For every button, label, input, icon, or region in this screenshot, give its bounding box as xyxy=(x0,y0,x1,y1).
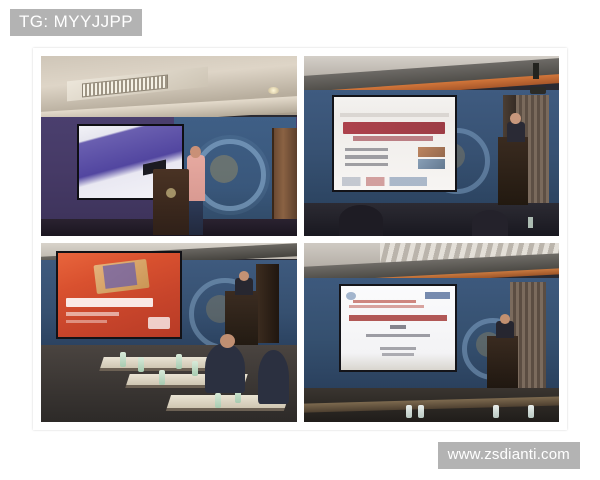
projection-screen xyxy=(332,95,457,192)
site-watermark: www.zsdianti.com xyxy=(438,442,580,469)
photo-panel-bottom-left[interactable] xyxy=(41,243,297,423)
photo-panel-top-left[interactable] xyxy=(41,56,297,236)
water-bottle xyxy=(528,405,534,418)
slide-meta-line xyxy=(66,320,107,323)
photo-collage-card xyxy=(33,48,567,430)
slide-title xyxy=(343,122,445,134)
slide-content xyxy=(334,97,455,190)
slide-banner-line xyxy=(349,305,424,308)
podium xyxy=(487,336,518,390)
water-bottle xyxy=(493,405,499,418)
table xyxy=(101,357,217,368)
slide-content xyxy=(58,253,179,337)
projector-mount-icon xyxy=(533,63,539,79)
projection-screen xyxy=(339,284,457,372)
slide-sponsor-logos xyxy=(342,177,427,185)
slide-header-band xyxy=(340,113,449,117)
slide-bullet xyxy=(345,163,389,167)
water-bottle xyxy=(138,357,144,372)
slide-affiliation-line xyxy=(380,347,416,350)
slide-subtitle xyxy=(353,136,433,142)
water-bottle xyxy=(406,405,412,418)
attendee xyxy=(258,350,289,404)
projection-screen xyxy=(56,251,181,339)
slide-bullet xyxy=(345,148,389,152)
slide-title xyxy=(66,298,153,307)
speaker-legs xyxy=(188,198,203,236)
slide-meta-line xyxy=(66,312,119,316)
photo-panel-top-right[interactable] xyxy=(304,56,560,236)
slide-thumbnail xyxy=(418,159,445,169)
slide-date-line xyxy=(382,353,414,356)
gear-logo-icon xyxy=(194,139,266,211)
slide-title xyxy=(349,315,447,321)
slide-thumbnail xyxy=(418,147,445,157)
audience-head xyxy=(339,205,382,236)
water-bottle xyxy=(176,354,182,369)
slide-presenter-name xyxy=(390,325,406,329)
slide-conference-logo xyxy=(425,292,450,300)
attendee xyxy=(205,343,246,393)
water-bottle xyxy=(528,217,533,228)
photo-panel-bottom-right[interactable] xyxy=(304,243,560,423)
speaker-head xyxy=(510,113,520,124)
water-bottle xyxy=(215,393,221,408)
slide-logo xyxy=(346,292,356,300)
water-bottle xyxy=(159,370,165,385)
downlight-icon xyxy=(268,87,279,94)
photo-grid xyxy=(41,56,559,422)
slide-bullet xyxy=(345,155,389,159)
water-bottle xyxy=(418,405,424,418)
slide-university-logo xyxy=(148,317,170,329)
slide-author-line xyxy=(366,334,430,337)
slide-graphic xyxy=(103,263,137,289)
speaker-torso xyxy=(187,155,205,202)
tag-badge: TG: MYYJJPP xyxy=(10,9,142,36)
speaker-torso xyxy=(507,122,525,142)
slide-content xyxy=(341,286,455,370)
audience-head xyxy=(472,210,508,235)
water-bottle xyxy=(120,352,126,367)
projector-icon xyxy=(530,87,546,94)
door xyxy=(256,264,279,343)
podium xyxy=(153,169,189,235)
slide-banner-line xyxy=(353,300,417,303)
podium xyxy=(498,137,529,205)
water-bottle xyxy=(192,361,198,376)
